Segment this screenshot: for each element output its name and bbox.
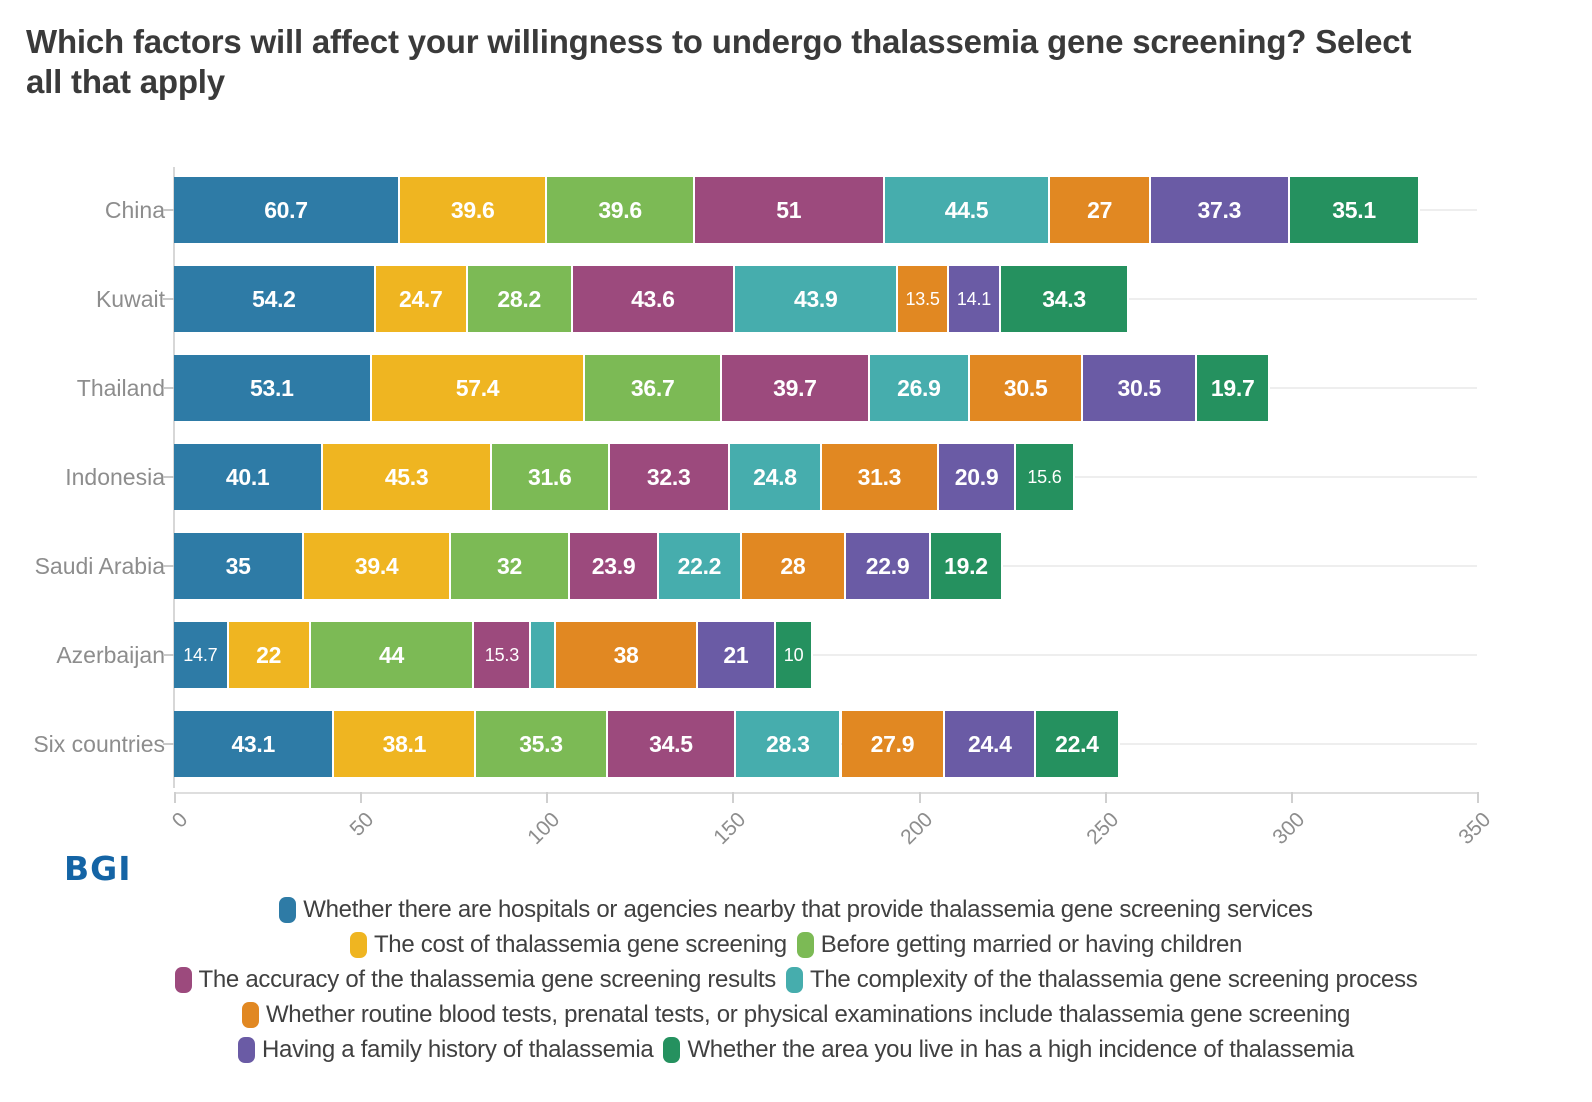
bar-segment[interactable]: 28 [742,533,846,599]
bar-segment[interactable]: 35 [174,533,304,599]
bar-segment-value: 21 [723,642,748,669]
bar-row: Thailand53.157.436.739.726.930.530.519.7 [0,345,1592,431]
bar-segment-value: 32 [497,553,522,580]
bar-segment[interactable]: 35.3 [476,711,607,777]
bar-segment-value: 27.9 [871,731,915,758]
bar-segment[interactable]: 32.3 [610,444,730,510]
bar-segment[interactable]: 35.1 [1290,177,1421,243]
bar-segment[interactable]: 26.9 [870,355,970,421]
bar-segment[interactable]: 19.2 [931,533,1002,599]
legend-item[interactable]: Whether the area you live in has a high … [663,1036,1354,1064]
bar-segment-value: 43.1 [231,731,275,758]
legend-item[interactable]: The accuracy of the thalassemia gene scr… [175,966,776,994]
bar-segment[interactable]: 15.6 [1016,444,1074,510]
legend-swatch-icon [786,967,803,993]
bar-segment-value: 20.9 [955,464,999,491]
y-axis-tick [163,298,174,300]
bar-segment-value: 23.9 [592,553,636,580]
bar-segment-value: 28.3 [766,731,810,758]
y-axis-tick [163,565,174,567]
x-axis-tick [919,792,921,803]
legend-label: Whether there are hospitals or agencies … [303,896,1312,924]
legend-row: Whether there are hospitals or agencies … [0,892,1592,927]
bar-segment[interactable]: 31.3 [822,444,939,510]
bar-segment-value: 14.1 [957,289,991,310]
legend-label: Before getting married or having childre… [821,931,1242,959]
y-axis-label-china: China [0,167,165,253]
legend-swatch-icon [350,932,367,958]
legend-label: Whether the area you live in has a high … [687,1036,1354,1064]
legend-swatch-icon [175,967,192,993]
y-axis-tick [163,209,174,211]
x-axis-tick [360,792,362,803]
legend-item[interactable]: Before getting married or having childre… [797,931,1242,959]
bar-segment-value: 44 [379,642,404,669]
bar-segment-value: 31.6 [528,464,572,491]
legend-row: Having a family history of thalassemiaWh… [0,1032,1592,1067]
bar-segment[interactable]: 21 [698,622,776,688]
bar-segment-value: 10 [784,645,804,666]
bar-segment-value: 36.7 [631,375,675,402]
bar-segment[interactable]: 30.5 [1083,355,1197,421]
bar-segment-value: 22 [256,642,281,669]
bar-segment[interactable]: 10 [776,622,813,688]
bar-segment-value: 53.1 [250,375,294,402]
bar-segment[interactable]: 22.2 [659,533,742,599]
bar-segment-value: 51 [776,197,801,224]
x-axis-tick-label: 250 [1063,808,1124,869]
x-axis-tick [174,792,176,803]
legend-swatch-icon [663,1037,680,1063]
bar-segment[interactable]: 22.4 [1036,711,1119,777]
legend-label: The complexity of the thalassemia gene s… [810,966,1418,994]
bar-segment-value: 37.3 [1198,197,1242,224]
bar-segment[interactable]: 34.5 [608,711,736,777]
bar-segment[interactable]: 23.9 [570,533,659,599]
x-axis-line [174,792,1477,794]
bar-segment[interactable]: 31.6 [492,444,610,510]
bar-segment-value: 35 [226,553,251,580]
bar-segment[interactable]: 24.8 [730,444,822,510]
x-axis-tick-label: 0 [132,808,193,869]
legend-label: The cost of thalassemia gene screening [374,931,787,959]
bar-segment-value: 35.3 [519,731,563,758]
bar-segment-value: 34.3 [1042,286,1086,313]
bgi-logo: BGI [64,849,132,888]
bar-segment-value: 43.9 [794,286,838,313]
bar-segment-value: 32.3 [647,464,691,491]
bar-segment-value: 43.6 [631,286,675,313]
bar-segment[interactable]: 13.5 [898,266,948,332]
bar-segment-value: 57.4 [456,375,500,402]
bar-segment[interactable]: 53.1 [174,355,372,421]
y-axis-tick [163,654,174,656]
x-axis-tick [732,792,734,803]
bar-segment-value: 39.6 [451,197,495,224]
legend-swatch-icon [797,932,814,958]
bar-segment[interactable]: 30.5 [970,355,1084,421]
x-axis-tick [546,792,548,803]
bar-segment-value: 60.7 [264,197,308,224]
bar-segment-value: 39.4 [355,553,399,580]
legend-row: Whether routine blood tests, prenatal te… [0,997,1592,1032]
chart-plot-area: China60.739.639.65144.52737.335.1Kuwait5… [0,160,1592,800]
bar-segment-value: 13.5 [905,289,939,310]
bar-segment[interactable]: 27.9 [842,711,946,777]
bar-segment-value: 19.2 [944,553,988,580]
bar-segment-value: 39.7 [773,375,817,402]
bar-segment[interactable]: 40.1 [174,444,323,510]
y-axis-label-azerbaijan: Azerbaijan [0,612,165,698]
bar-segment-value: 22.2 [678,553,722,580]
bar-segment[interactable]: 32 [451,533,570,599]
bar-segment[interactable]: 38 [556,622,697,688]
bar-segment-value: 26.9 [897,375,941,402]
bar-segment-value: 30.5 [1117,375,1161,402]
page-title: Which factors will affect your willingne… [26,22,1446,103]
bar-segment[interactable]: 39.6 [547,177,694,243]
bar-segment[interactable]: 43.9 [735,266,898,332]
bar-segment[interactable]: 38.1 [334,711,476,777]
bar-segment-value: 22.9 [866,553,910,580]
bar-segment[interactable]: 24.7 [376,266,468,332]
legend-item[interactable]: Whether there are hospitals or agencies … [279,896,1312,924]
bar-segment[interactable]: 57.4 [372,355,586,421]
bar-segment[interactable]: 6.7 [531,622,556,688]
bar-segment-value: 38.1 [383,731,427,758]
x-axis-tick-label: 300 [1249,808,1310,869]
bar-segment[interactable]: 20.9 [939,444,1017,510]
chart-legend: Whether there are hospitals or agencies … [0,892,1592,1067]
x-axis-tick [1105,792,1107,803]
bar-segment[interactable]: 27 [1050,177,1151,243]
bar-segment-value: 31.3 [858,464,902,491]
bar-segment-value: 40.1 [226,464,270,491]
legend-row: The cost of thalassemia gene screeningBe… [0,927,1592,962]
bar-segment[interactable]: 22 [229,622,311,688]
bar-segment-value: 15.6 [1027,467,1061,488]
x-axis-tick [1291,792,1293,803]
bar-segment[interactable]: 15.3 [474,622,531,688]
bar-segment[interactable]: 28.3 [736,711,841,777]
bar-row: China60.739.639.65144.52737.335.1 [0,167,1592,253]
bar-segment-value: 34.5 [649,731,693,758]
bar-segment[interactable]: 19.7 [1197,355,1270,421]
y-axis-label-six-countries: Six countries [0,701,165,787]
bar-segment[interactable]: 24.4 [945,711,1036,777]
bar-segment-value: 22.4 [1055,731,1099,758]
bar-segment-value: 44.5 [945,197,989,224]
bar-segment-value: 38 [614,642,639,669]
legend-swatch-icon [242,1002,259,1028]
legend-label: Having a family history of thalassemia [262,1036,653,1064]
y-axis-label-thailand: Thailand [0,345,165,431]
bar-segment[interactable]: 51 [695,177,885,243]
legend-swatch-icon [238,1037,255,1063]
y-axis-tick [163,743,174,745]
bar-row: Six countries43.138.135.334.528.327.924.… [0,701,1592,787]
bar-segment[interactable]: 44.5 [885,177,1051,243]
x-axis-tick [1477,792,1479,803]
legend-row: The accuracy of the thalassemia gene scr… [0,962,1592,997]
bar-segment[interactable]: 43.1 [174,711,334,777]
bar-segment-value: 45.3 [385,464,429,491]
bar-segment[interactable]: 28.2 [468,266,573,332]
bar-segment[interactable]: 44 [311,622,475,688]
bar-segment-value: 28.2 [497,286,541,313]
y-axis-tick [163,476,174,478]
bar-row: Indonesia40.145.331.632.324.831.320.915.… [0,434,1592,520]
legend-item[interactable]: Having a family history of thalassemia [238,1036,653,1064]
x-axis-tick-label: 100 [504,808,565,869]
bar-segment-value: 28 [780,553,805,580]
y-axis-tick [163,387,174,389]
legend-label: The accuracy of the thalassemia gene scr… [199,966,776,994]
y-axis-label-kuwait: Kuwait [0,256,165,342]
bar-segment[interactable]: 14.1 [949,266,1001,332]
bar-segment[interactable]: 36.7 [585,355,722,421]
x-axis-tick-label: 150 [691,808,752,869]
x-axis-tick-label: 50 [318,808,379,869]
bar-segment[interactable]: 34.3 [1001,266,1129,332]
bar-segment-value: 19.7 [1211,375,1255,402]
bar-segment[interactable]: 14.7 [174,622,229,688]
x-axis: 050100150200250300350 [0,792,1592,882]
bar-segment-value: 15.3 [485,645,519,666]
bar-row: Saudi Arabia3539.43223.922.22822.919.2 [0,523,1592,609]
bar-row: Kuwait54.224.728.243.643.913.514.134.3 [0,256,1592,342]
bar-segment[interactable]: 60.7 [174,177,400,243]
bar-segment[interactable]: 43.6 [573,266,735,332]
bar-segment-value: 27 [1087,197,1112,224]
legend-item[interactable]: Whether routine blood tests, prenatal te… [242,1001,1350,1029]
bar-segment[interactable]: 39.7 [722,355,870,421]
x-axis-tick-label: 200 [877,808,938,869]
bar-segment-value: 39.6 [598,197,642,224]
x-axis-tick-label: 350 [1435,808,1496,869]
legend-swatch-icon [279,897,296,923]
bar-segment-value: 54.2 [252,286,296,313]
y-axis-label-indonesia: Indonesia [0,434,165,520]
bar-segment[interactable]: 45.3 [323,444,492,510]
bar-segment[interactable]: 54.2 [174,266,376,332]
legend-item[interactable]: The cost of thalassemia gene screening [350,931,787,959]
y-axis-label-saudi-arabia: Saudi Arabia [0,523,165,609]
bar-segment[interactable]: 39.6 [400,177,547,243]
bar-segment[interactable]: 37.3 [1151,177,1290,243]
bar-segment-value: 24.4 [968,731,1012,758]
bar-segment-value: 24.8 [753,464,797,491]
bar-segment[interactable]: 22.9 [846,533,931,599]
bar-segment-value: 14.7 [183,645,217,666]
bar-segment-value: 24.7 [399,286,443,313]
bar-segment[interactable]: 39.4 [304,533,451,599]
legend-item[interactable]: The complexity of the thalassemia gene s… [786,966,1418,994]
bar-segment-value: 35.1 [1332,197,1376,224]
bar-row: Azerbaijan14.7224415.36.7382110 [0,612,1592,698]
legend-label: Whether routine blood tests, prenatal te… [266,1001,1350,1029]
bar-segment-value: 30.5 [1004,375,1048,402]
